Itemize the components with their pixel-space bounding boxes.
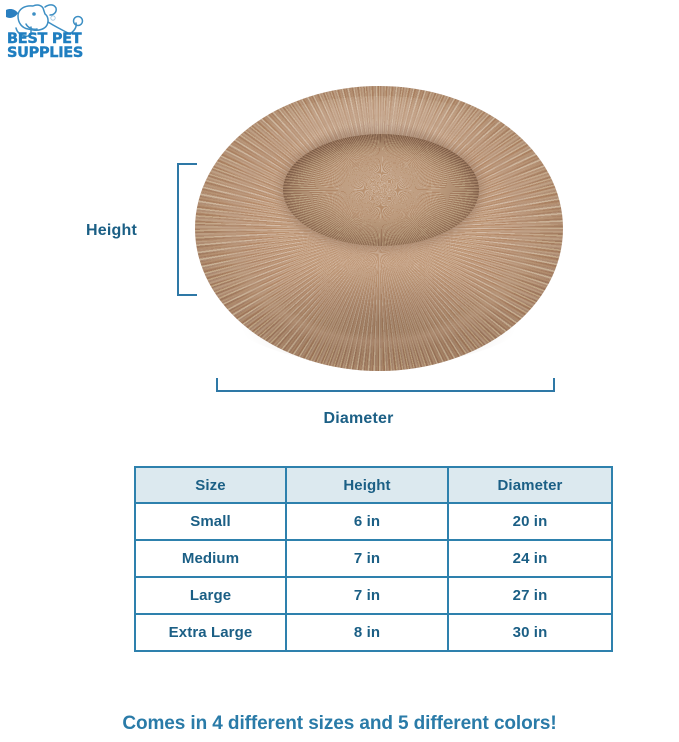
brand-name: BEST PET SUPPLIES <box>7 32 107 60</box>
column-header-height: Height <box>286 467 448 503</box>
table-header: Size Height Diameter <box>135 467 612 503</box>
table-header-row: Size Height Diameter <box>135 467 612 503</box>
table-row: Large 7 in 27 in <box>135 577 612 614</box>
bed-inner-fur-texture <box>283 134 479 246</box>
pet-bed-illustration <box>195 86 563 371</box>
column-header-diameter: Diameter <box>448 467 612 503</box>
cell-size: Small <box>135 503 286 540</box>
cell-diameter: 20 in <box>448 503 612 540</box>
cell-diameter: 24 in <box>448 540 612 577</box>
diameter-label: Diameter <box>0 410 679 428</box>
footer-tagline: Comes in 4 different sizes and 5 differe… <box>0 713 679 735</box>
brand-logo: BEST PET SUPPLIES <box>4 2 114 74</box>
cell-diameter: 27 in <box>448 577 612 614</box>
diameter-label-text: Diameter <box>323 410 393 428</box>
product-size-chart-page: BEST PET SUPPLIES Height Diameter Size H… <box>0 0 679 742</box>
cell-size: Medium <box>135 540 286 577</box>
brand-name-line-2: SUPPLIES <box>7 46 107 60</box>
brand-name-line-1: BEST PET <box>7 32 107 46</box>
table-row: Medium 7 in 24 in <box>135 540 612 577</box>
table-row: Small 6 in 20 in <box>135 503 612 540</box>
column-header-size: Size <box>135 467 286 503</box>
product-image <box>185 78 575 378</box>
bed-inner-cushion <box>283 134 479 246</box>
cell-height: 7 in <box>286 540 448 577</box>
cell-height: 8 in <box>286 614 448 651</box>
cell-height: 7 in <box>286 577 448 614</box>
diameter-bracket-icon <box>216 378 555 392</box>
table-body: Small 6 in 20 in Medium 7 in 24 in Large… <box>135 503 612 651</box>
cell-diameter: 30 in <box>448 614 612 651</box>
cell-size: Large <box>135 577 286 614</box>
size-chart-table: Size Height Diameter Small 6 in 20 in Me… <box>134 466 613 652</box>
cell-height: 6 in <box>286 503 448 540</box>
table-row: Extra Large 8 in 30 in <box>135 614 612 651</box>
height-label: Height <box>86 222 137 240</box>
cell-size: Extra Large <box>135 614 286 651</box>
height-bracket-icon <box>177 163 197 296</box>
